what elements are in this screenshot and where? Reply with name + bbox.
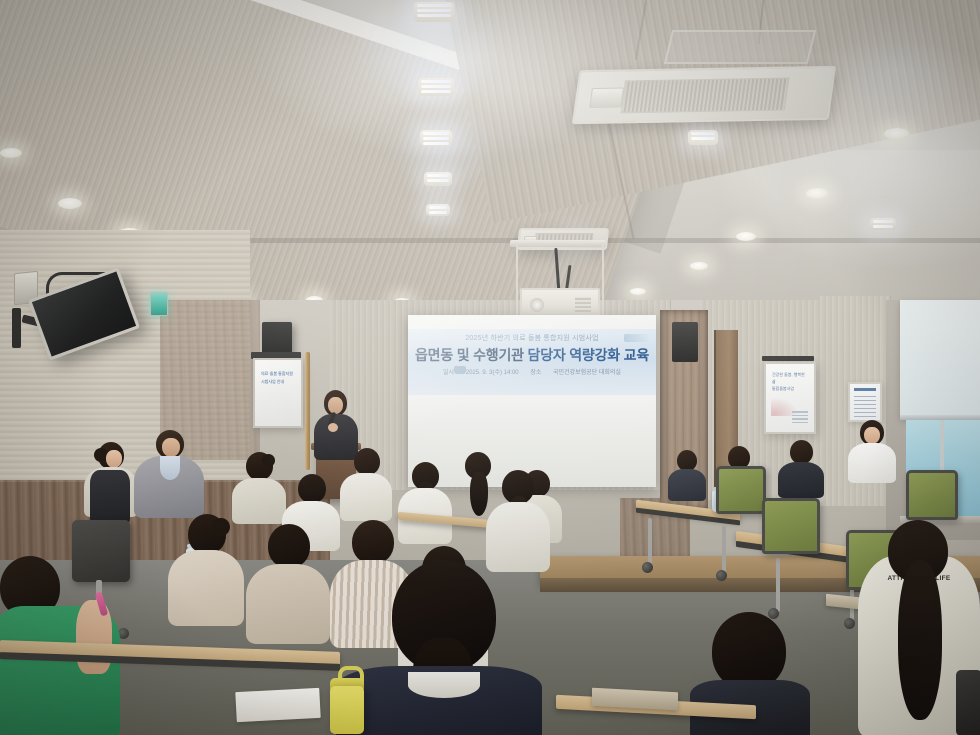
handout <box>235 688 320 722</box>
chair[interactable] <box>72 520 130 582</box>
ceiling-light-fixture <box>426 204 450 216</box>
downlight-icon <box>736 232 756 241</box>
chair-caster <box>642 562 653 573</box>
attendee-torso <box>848 443 896 483</box>
attendee-front-green <box>0 596 120 735</box>
attendee-back-right-1 <box>846 420 898 482</box>
attendee-near-1 <box>168 514 244 624</box>
ceiling-light-fixture <box>870 218 896 230</box>
attendee-mid-1 <box>232 452 286 522</box>
attendee-near-2 <box>246 524 330 642</box>
ceiling-light-fixture <box>418 78 454 96</box>
attendee-head <box>352 520 394 564</box>
presenter-face <box>328 397 343 414</box>
ceiling-light-fixture <box>424 172 452 186</box>
desk-leg <box>648 518 652 566</box>
ceiling-light-fixture <box>688 130 718 145</box>
attendee-front-center <box>336 560 542 735</box>
attendee-mid-3 <box>340 448 392 520</box>
downlight-icon <box>806 188 829 199</box>
poster-line-2: 통합돌봄사업 <box>772 385 808 392</box>
attendee-near-5 <box>486 470 550 570</box>
attendee-back-right-2 <box>778 440 824 496</box>
chair[interactable] <box>906 470 958 520</box>
chair[interactable] <box>716 466 766 514</box>
monitor-wall-mount <box>12 308 21 348</box>
poster-footer-lines <box>792 409 808 425</box>
ceiling-light-fixture <box>414 2 454 22</box>
chair-caster <box>716 570 727 581</box>
projector-vent <box>575 297 591 312</box>
poster-text: 건강한 돌봄, 행복한 삶 통합돌봄사업 <box>772 371 808 393</box>
notice-title-bar <box>854 388 876 391</box>
attendee-head <box>268 524 310 568</box>
desk-leg <box>722 526 726 574</box>
downlight-icon <box>690 262 708 270</box>
hair-bun <box>262 454 275 467</box>
hair-bun <box>212 518 230 536</box>
exit-sign-icon <box>150 292 168 316</box>
yellow-tumbler <box>330 686 364 734</box>
wall-notice <box>848 382 882 422</box>
attendee-back-right-4 <box>668 450 706 500</box>
whiteboard-line-1: 의료·돌봄 통합지원 <box>261 370 296 378</box>
ac-grille <box>621 78 789 114</box>
attendee-torso <box>168 550 244 626</box>
attendee-with-tee: A LAID BACK ATTITUDE TO LIFE <box>858 520 980 735</box>
projector-lens <box>530 298 544 312</box>
attendee-head <box>354 448 380 475</box>
attendee-torso <box>778 462 824 498</box>
attendee-head <box>677 450 697 471</box>
desk-leg <box>776 558 780 612</box>
attendee-head <box>790 440 813 464</box>
attendee-head <box>712 612 786 690</box>
poster-rail <box>762 356 814 361</box>
attendee-torso <box>340 473 392 521</box>
downlight-icon <box>630 288 646 295</box>
attendee-hair <box>898 560 942 720</box>
shoulder-bag <box>956 670 980 735</box>
ceiling-light-fixture <box>420 130 452 146</box>
air-conditioner-icon <box>572 66 836 124</box>
whiteboard-line-2: 시범사업 안내 <box>261 378 296 386</box>
downlight-icon <box>58 198 82 209</box>
window-blind-icon <box>900 300 980 418</box>
whiteboard: 의료·돌봄 통합지원 시범사업 안내 <box>253 358 303 428</box>
ac-vane <box>589 87 624 108</box>
ceiling-access-panel <box>664 30 816 64</box>
attendee-face <box>162 438 180 457</box>
attendee-face <box>106 450 122 468</box>
attendee-head <box>298 474 326 503</box>
chair-caster <box>844 618 855 629</box>
downlight-icon <box>884 128 910 140</box>
whiteboard-text: 의료·돌봄 통합지원 시범사업 안내 <box>261 370 296 385</box>
attendee-torso <box>246 564 330 644</box>
attendee-face <box>864 427 880 444</box>
shirt-collar <box>160 456 180 480</box>
poster-line-1: 건강한 돌봄, 행복한 삶 <box>772 371 808 385</box>
downlight-icon <box>0 148 22 158</box>
attendee-collar <box>408 672 480 698</box>
seminar-room-photo: 의료·돌봄 통합지원 시범사업 안내 건강한 돌봄, 행복한 삶 통합돌봄사업 … <box>0 0 980 735</box>
loudspeaker-icon-right <box>672 322 698 362</box>
presenter-hand <box>328 423 338 432</box>
attendee-torso <box>668 469 706 501</box>
chair[interactable] <box>762 498 820 554</box>
attendee-vest <box>90 470 130 524</box>
wall-poster: 건강한 돌봄, 행복한 삶 통합돌봄사업 <box>764 362 816 434</box>
